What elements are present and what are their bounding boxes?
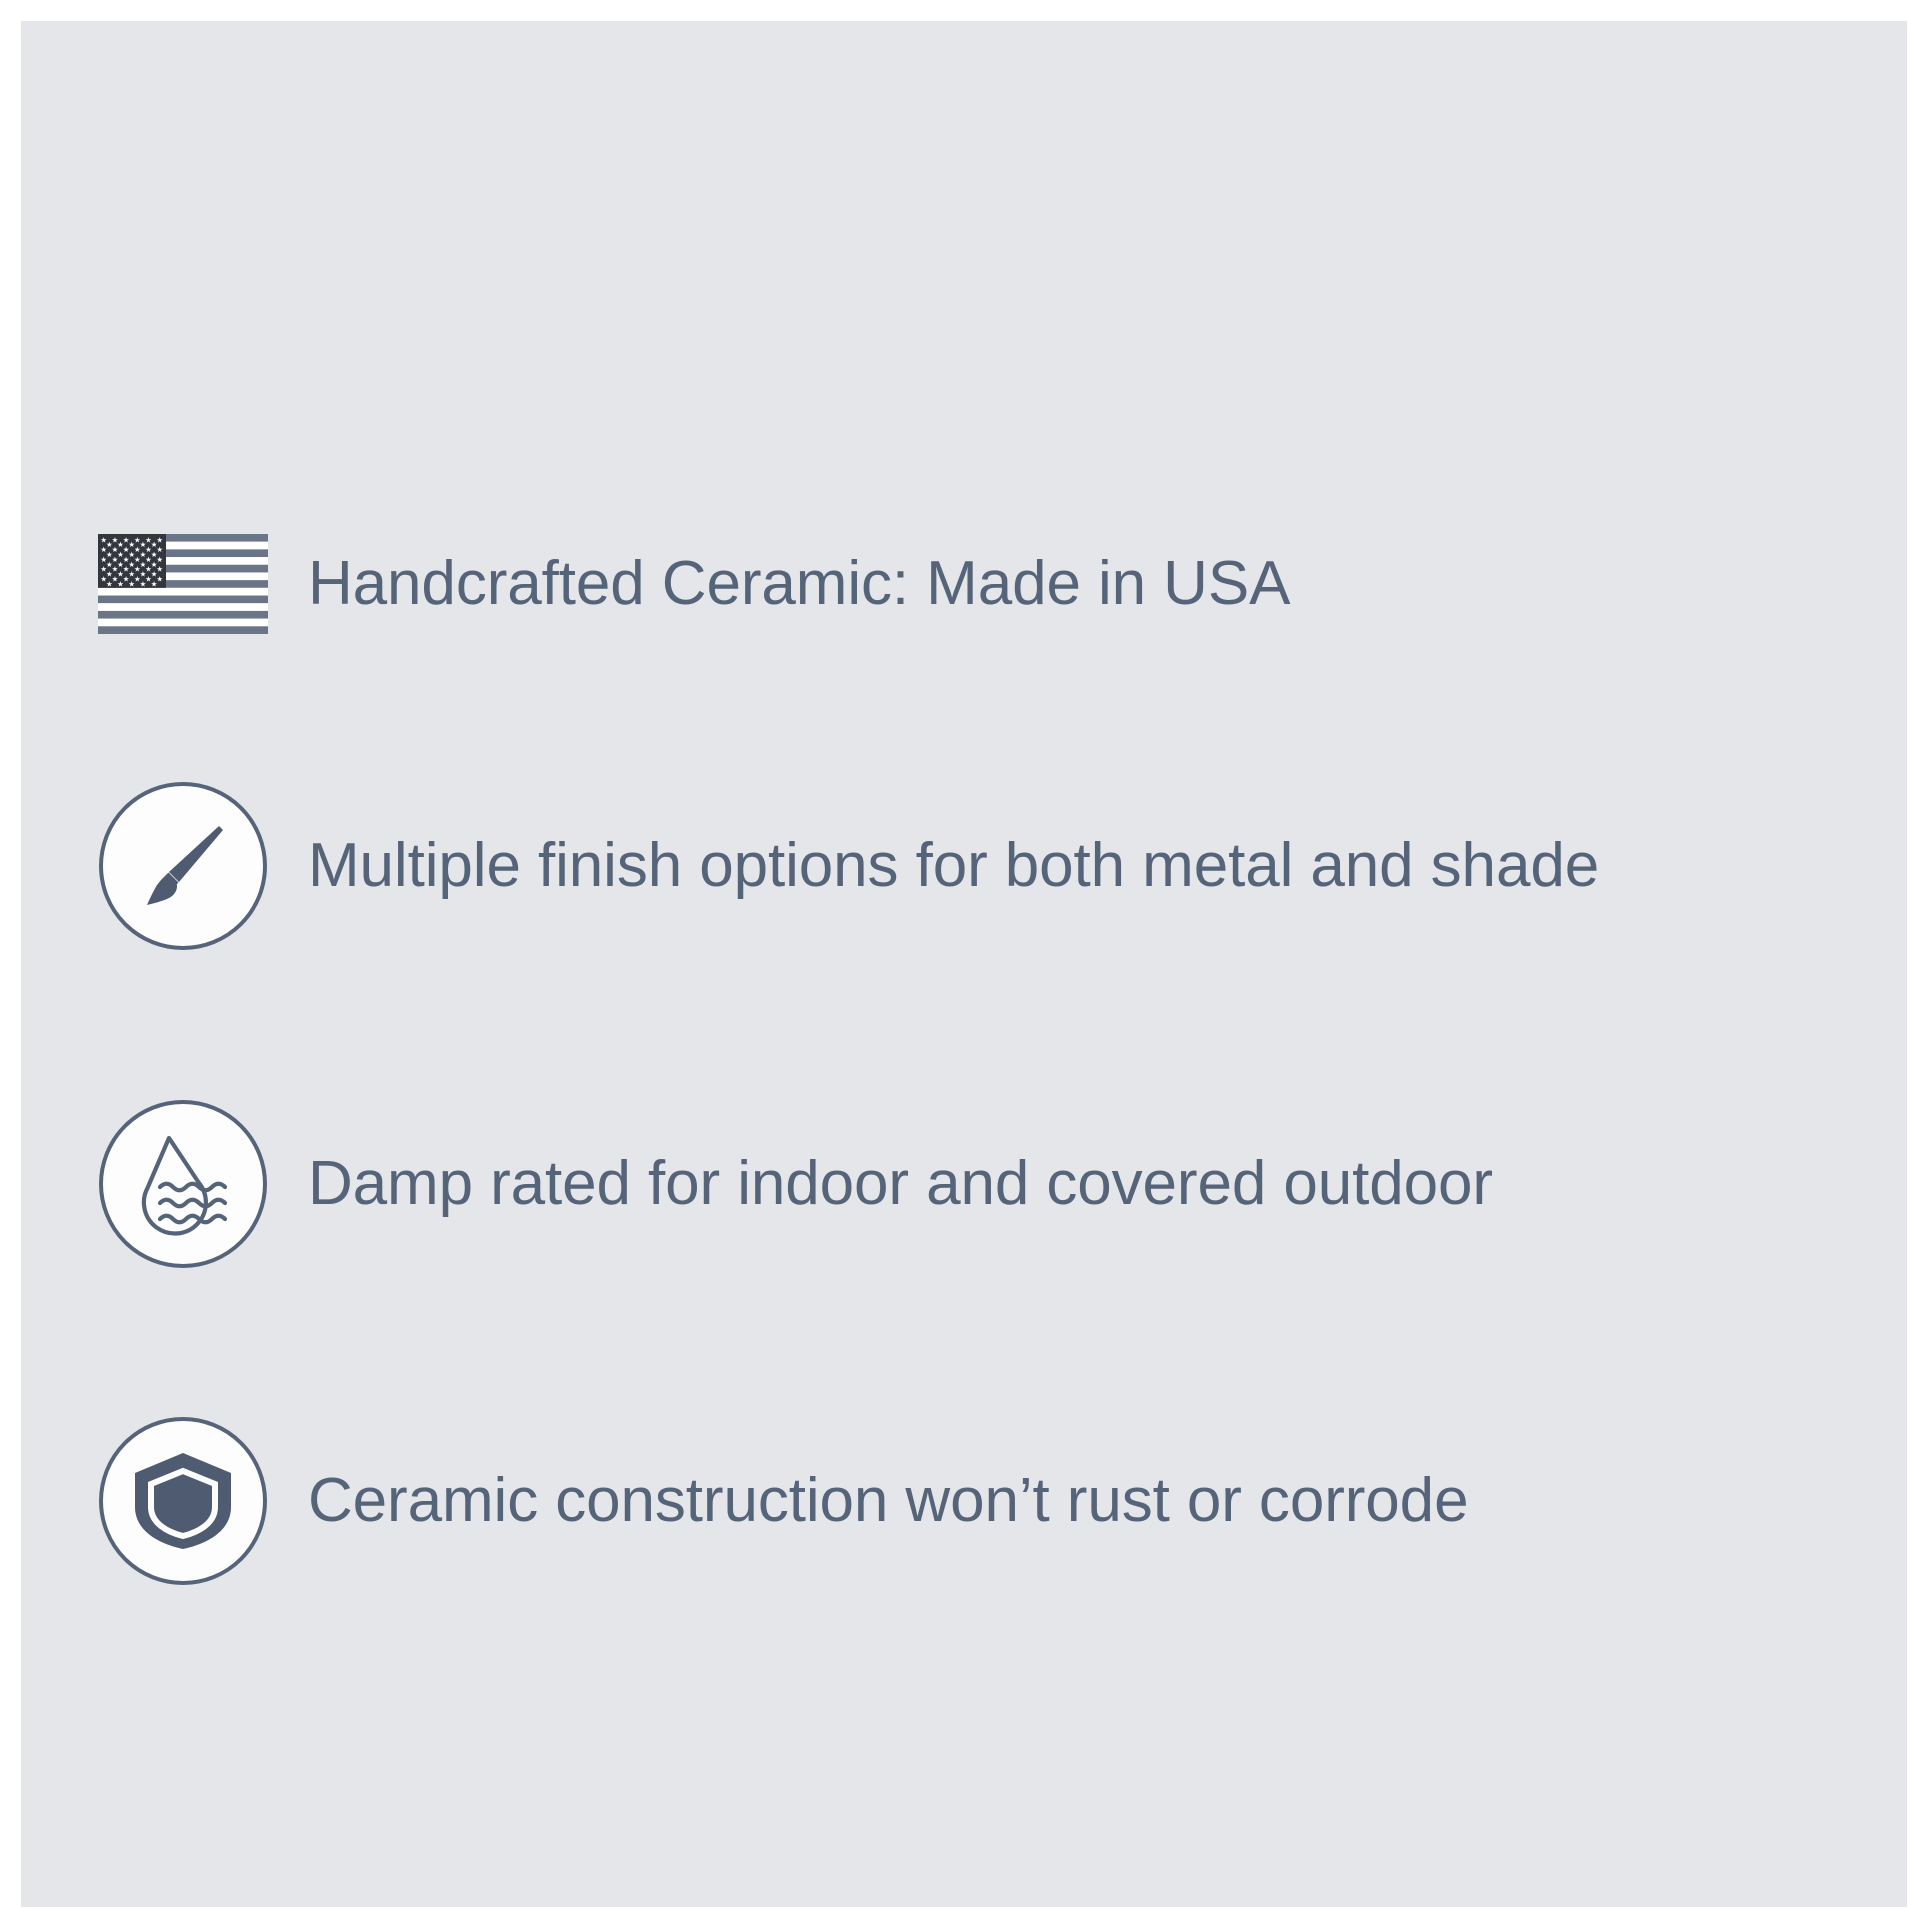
feature-label: Damp rated for indoor and covered outdoo… xyxy=(308,1151,1493,1218)
image-canvas: ★ ★ ★ ★ ★ ★ ★ ★ ★ xyxy=(0,0,1928,1928)
water-drop-waves-icon xyxy=(129,1130,237,1238)
svg-text:★: ★ xyxy=(106,579,113,588)
icon-circle-badge xyxy=(99,1417,267,1585)
icon-slot xyxy=(88,1089,278,1279)
icon-circle-badge xyxy=(99,1100,267,1268)
feature-row-made-in-usa: ★ ★ ★ ★ ★ ★ ★ ★ ★ xyxy=(88,489,1290,679)
svg-text:★: ★ xyxy=(151,579,158,588)
feature-list: ★ ★ ★ ★ ★ ★ ★ ★ ★ xyxy=(21,21,1907,1907)
icon-circle-badge xyxy=(99,782,267,950)
svg-text:★: ★ xyxy=(156,555,163,564)
svg-text:★: ★ xyxy=(117,579,124,588)
svg-text:★: ★ xyxy=(156,565,163,574)
feature-row-finish-options: Multiple finish options for both metal a… xyxy=(88,771,1599,961)
feature-label: Handcrafted Ceramic: Made in USA xyxy=(308,551,1290,618)
us-flag-icon: ★ ★ ★ ★ ★ ★ ★ ★ ★ xyxy=(98,534,268,634)
paintbrush-icon xyxy=(133,816,233,916)
svg-text:★: ★ xyxy=(128,579,135,588)
icon-slot xyxy=(88,1406,278,1596)
svg-text:★: ★ xyxy=(140,579,147,588)
feature-label: Multiple finish options for both metal a… xyxy=(308,833,1599,900)
icon-slot xyxy=(88,771,278,961)
feature-label: Ceramic construction won’t rust or corro… xyxy=(308,1468,1468,1535)
svg-text:★: ★ xyxy=(156,535,163,544)
svg-text:★: ★ xyxy=(156,575,163,584)
feature-panel: ★ ★ ★ ★ ★ ★ ★ ★ ★ xyxy=(21,21,1907,1907)
shield-icon xyxy=(131,1449,235,1553)
svg-text:★: ★ xyxy=(156,545,163,554)
icon-slot: ★ ★ ★ ★ ★ ★ ★ ★ ★ xyxy=(88,489,278,679)
feature-row-no-rust: Ceramic construction won’t rust or corro… xyxy=(88,1406,1468,1596)
feature-row-damp-rated: Damp rated for indoor and covered outdoo… xyxy=(88,1089,1493,1279)
